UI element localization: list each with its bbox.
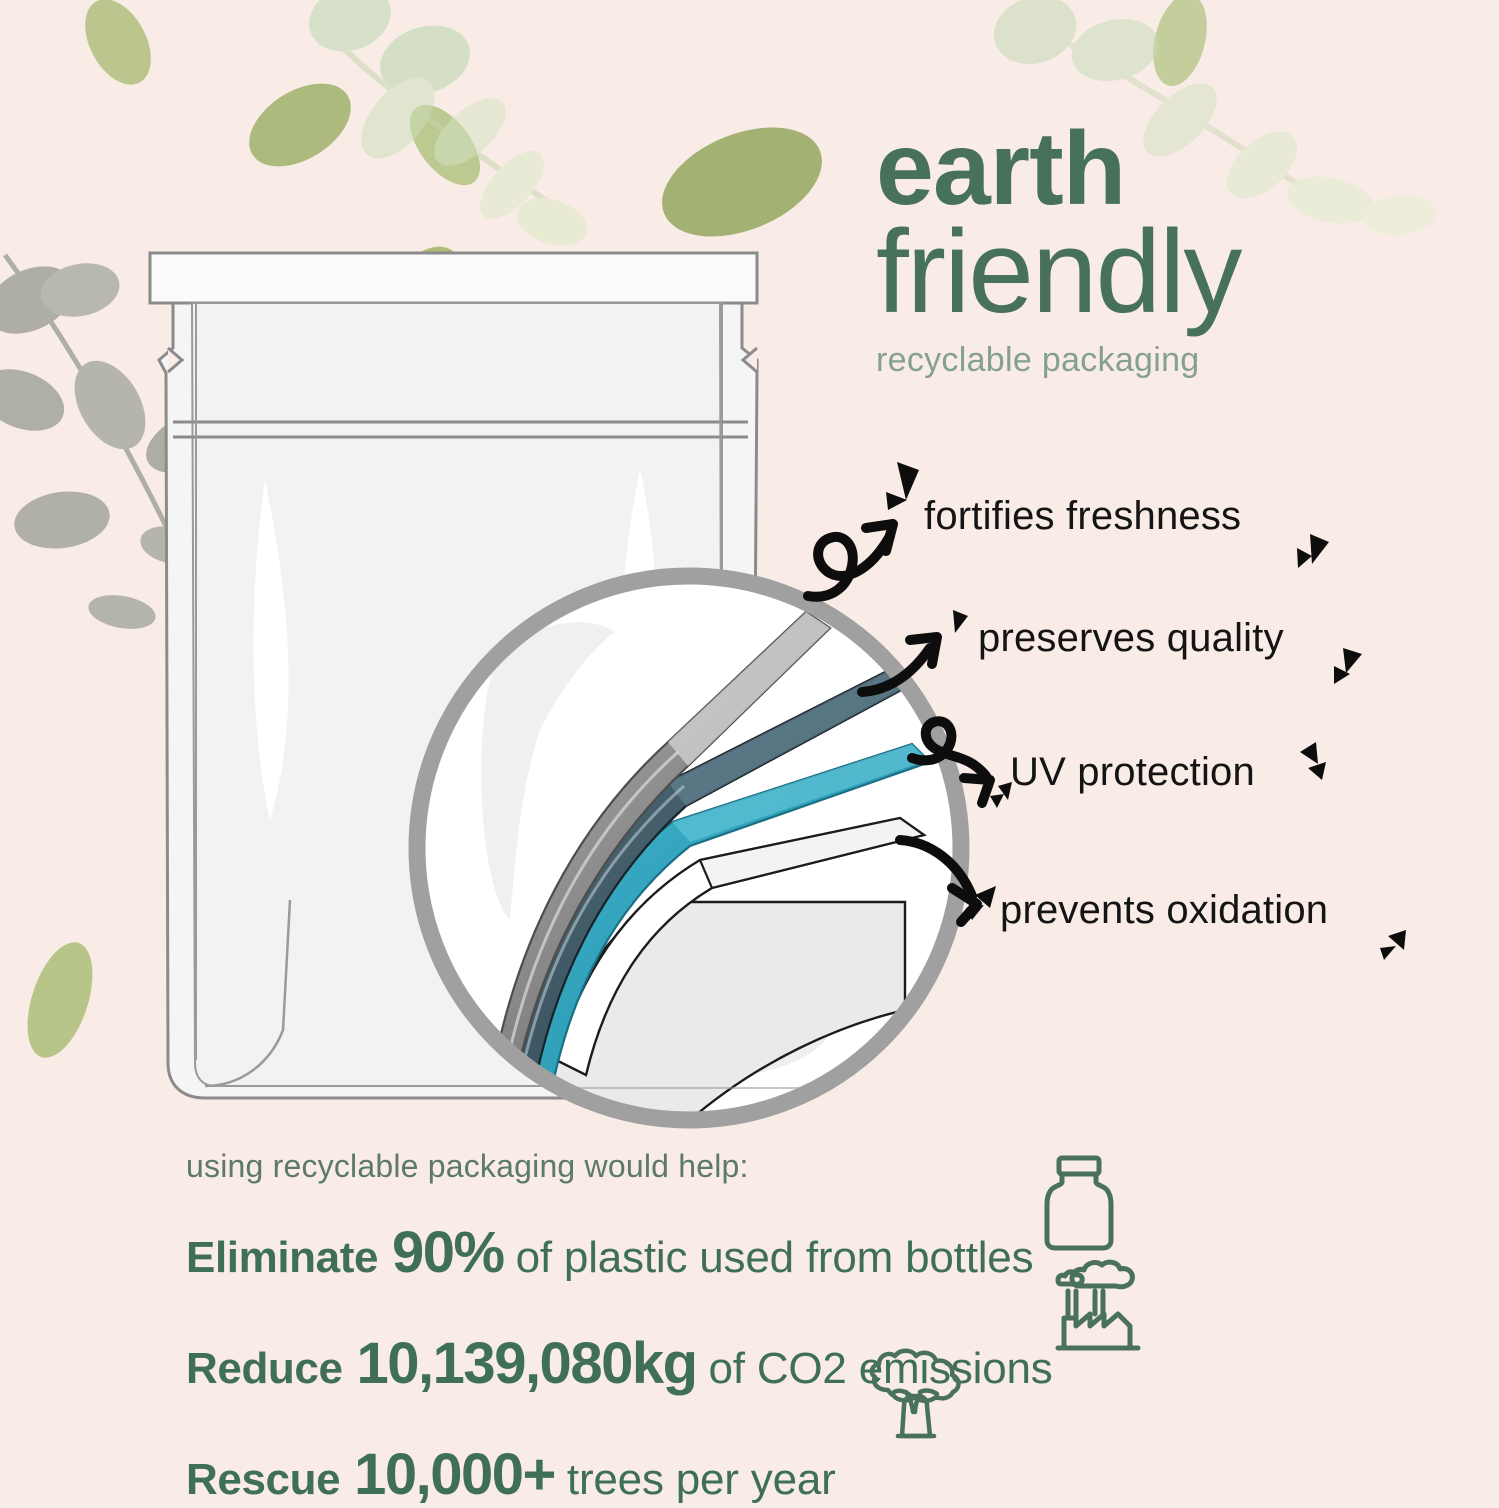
layer-barrier-dark-edge	[668, 672, 905, 806]
spark-icon	[990, 794, 1004, 808]
lens-highlight	[481, 622, 615, 920]
pouch-highlight	[254, 480, 289, 820]
arrow-head-icon	[866, 524, 893, 551]
spark-icon	[1300, 742, 1318, 764]
spark-icon	[966, 905, 984, 920]
bottle-icon	[1040, 1152, 1126, 1256]
stat-number: 90%	[392, 1219, 504, 1286]
stat-verb: Rescue	[186, 1455, 340, 1505]
arrow-curve-icon	[808, 536, 890, 597]
spark-icon	[897, 462, 919, 500]
arrow-head-icon	[952, 888, 977, 922]
feature-label-fortifies-freshness: fortifies freshness	[924, 494, 1241, 539]
stat-row: Eliminate 90% of plastic used from bottl…	[186, 1219, 1366, 1286]
leaf-icon	[646, 106, 838, 258]
pouch-outline	[150, 253, 757, 1098]
spark-icon	[1388, 930, 1406, 950]
spark-icon	[886, 492, 907, 510]
stat-number: 10,139,080kg	[357, 1330, 697, 1397]
leaf-icon	[1144, 0, 1215, 92]
leaf-icon	[396, 93, 493, 198]
layer-uv-teal	[522, 744, 930, 1098]
stat-number: 10,000+	[354, 1441, 555, 1508]
stat-description: trees per year	[567, 1455, 836, 1505]
lens-rim	[417, 576, 961, 1120]
arrow-curve-icon	[862, 648, 930, 692]
tree-icon	[858, 1348, 976, 1448]
leaf-icon	[72, 0, 165, 96]
layer-outer-silver	[488, 612, 830, 1100]
leaf-icon	[15, 934, 105, 1065]
leaf-icon	[234, 66, 365, 183]
pouch-side-gusset	[720, 303, 722, 1050]
headline-line-1: earth	[876, 120, 1436, 220]
headline-block: earth friendly recyclable packaging	[876, 120, 1436, 380]
eucalyptus-sprig	[178, 417, 553, 565]
arrow-head-icon	[964, 778, 990, 803]
arrow-curve-icon	[900, 840, 972, 896]
olive-branch	[0, 253, 271, 710]
layer-inner-white-strip-edge	[700, 818, 924, 888]
leaf-icon	[167, 892, 297, 1037]
feature-label-uv-protection: UV protection	[1010, 750, 1255, 795]
spark-icon	[1343, 648, 1362, 673]
lens-fill	[417, 576, 961, 1120]
spark-icon	[975, 886, 996, 908]
eucalyptus-sprig	[300, 0, 593, 254]
layer-outer-silver-edge	[668, 612, 830, 766]
pouch-bottom-gusset	[205, 900, 290, 1086]
headline-line-2: friendly	[876, 216, 1436, 329]
pouch-tear-notch	[168, 348, 182, 372]
stat-verb: Reduce	[186, 1344, 343, 1394]
layer-uv-teal-highlight	[672, 744, 928, 842]
spark-icon	[1310, 534, 1329, 564]
stat-description: of plastic used from bottles	[516, 1233, 1034, 1283]
leaf-icon	[348, 230, 482, 380]
arrow-curve-icon	[912, 721, 986, 776]
stat-row: Rescue 10,000+ trees per year	[186, 1441, 1366, 1508]
layer-inner-white-base	[545, 902, 905, 1120]
layer-inner-white-strip	[556, 818, 924, 1075]
stat-verb: Eliminate	[186, 1233, 378, 1283]
feature-label-prevents-oxidation: prevents oxidation	[1000, 888, 1328, 933]
stats-block: using recyclable packaging would help: E…	[186, 1148, 1366, 1508]
factory-icon	[1050, 1256, 1160, 1356]
arrow-head-icon	[910, 637, 937, 664]
spark-icon	[953, 610, 968, 633]
lens-highlight	[655, 1028, 828, 1080]
headline-subtitle: recyclable packaging	[876, 341, 1436, 380]
stats-lead-text: using recyclable packaging would help:	[186, 1148, 1366, 1185]
spark-icon	[1380, 946, 1396, 960]
spark-icon	[1297, 548, 1312, 568]
pouch-tear-notch	[743, 348, 757, 372]
feature-label-preserves-quality: preserves quality	[978, 616, 1284, 661]
pouch-front-panel	[192, 303, 722, 1086]
pouch-highlight	[621, 470, 656, 790]
spark-icon	[1308, 762, 1326, 780]
layer-barrier-dark	[505, 672, 905, 1098]
pouch-top-seal	[150, 253, 757, 303]
spark-icon	[1334, 666, 1350, 684]
infographic-canvas: earth friendly recyclable packaging fort…	[0, 0, 1499, 1500]
stat-row: Reduce 10,139,080kg of CO2 emissions	[186, 1330, 1366, 1397]
